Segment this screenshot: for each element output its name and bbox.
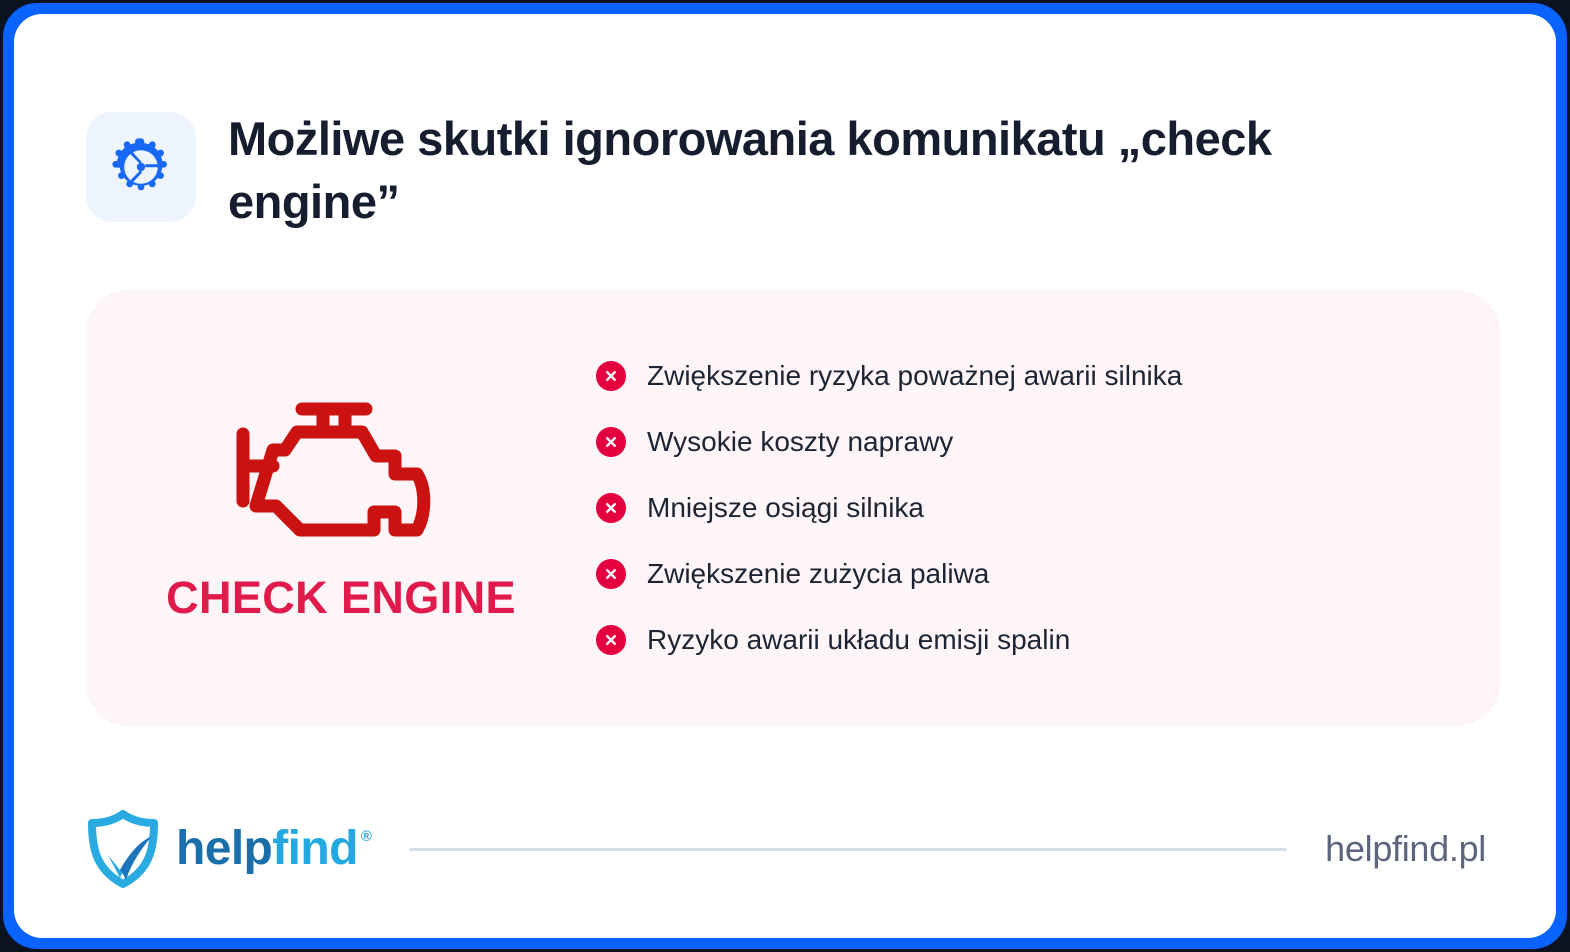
shield-check-icon xyxy=(86,810,160,888)
card-surface: Możliwe skutki ignorowania komunikatu „c… xyxy=(14,14,1556,938)
blue-border-frame: Możliwe skutki ignorowania komunikatu „c… xyxy=(3,3,1567,949)
header: Możliwe skutki ignorowania komunikatu „c… xyxy=(86,106,1486,233)
list-item: Mniejsze osiągi silnika xyxy=(596,475,1460,541)
check-engine-icon xyxy=(235,398,447,538)
content-panel: CHECK ENGINE Zwiększenie ryzy xyxy=(86,290,1500,726)
page-title: Możliwe skutki ignorowania komunikatu „c… xyxy=(228,106,1338,233)
infographic-root: Możliwe skutki ignorowania komunikatu „c… xyxy=(0,0,1570,952)
wordmark-primary: help xyxy=(176,825,272,873)
gear-icon xyxy=(110,136,172,198)
footer-divider xyxy=(409,848,1287,851)
helpfind-logo: help find ® xyxy=(86,810,371,888)
helpfind-wordmark: help find ® xyxy=(176,825,371,873)
footer: help find ® helpfind.pl xyxy=(86,794,1486,904)
check-engine-label: CHECK ENGINE xyxy=(166,572,516,624)
list-item-label: Zwiększenie zużycia paliwa xyxy=(647,557,989,591)
list-item-label: Wysokie koszty naprawy xyxy=(647,425,953,459)
gear-icon-badge xyxy=(86,112,196,222)
registered-mark: ® xyxy=(361,829,371,844)
wordmark-secondary: find xyxy=(272,825,358,873)
list-item-label: Mniejsze osiągi silnika xyxy=(647,491,924,525)
list-item-label: Ryzyko awarii układu emisji spalin xyxy=(647,623,1070,657)
list-item: Ryzyko awarii układu emisji spalin xyxy=(596,607,1460,673)
list-item: Zwiększenie zużycia paliwa xyxy=(596,541,1460,607)
footer-domain: helpfind.pl xyxy=(1325,828,1486,870)
list-item-label: Zwiększenie ryzyka poważnej awarii silni… xyxy=(647,359,1182,393)
x-circle-icon xyxy=(596,361,626,391)
list-item: Zwiększenie ryzyka poważnej awarii silni… xyxy=(596,343,1460,409)
x-circle-icon xyxy=(596,625,626,655)
x-circle-icon xyxy=(596,493,626,523)
check-engine-visual: CHECK ENGINE xyxy=(86,392,596,624)
list-item: Wysokie koszty naprawy xyxy=(596,409,1460,475)
consequence-list: Zwiększenie ryzyka poważnej awarii silni… xyxy=(596,343,1500,673)
x-circle-icon xyxy=(596,559,626,589)
x-circle-icon xyxy=(596,427,626,457)
